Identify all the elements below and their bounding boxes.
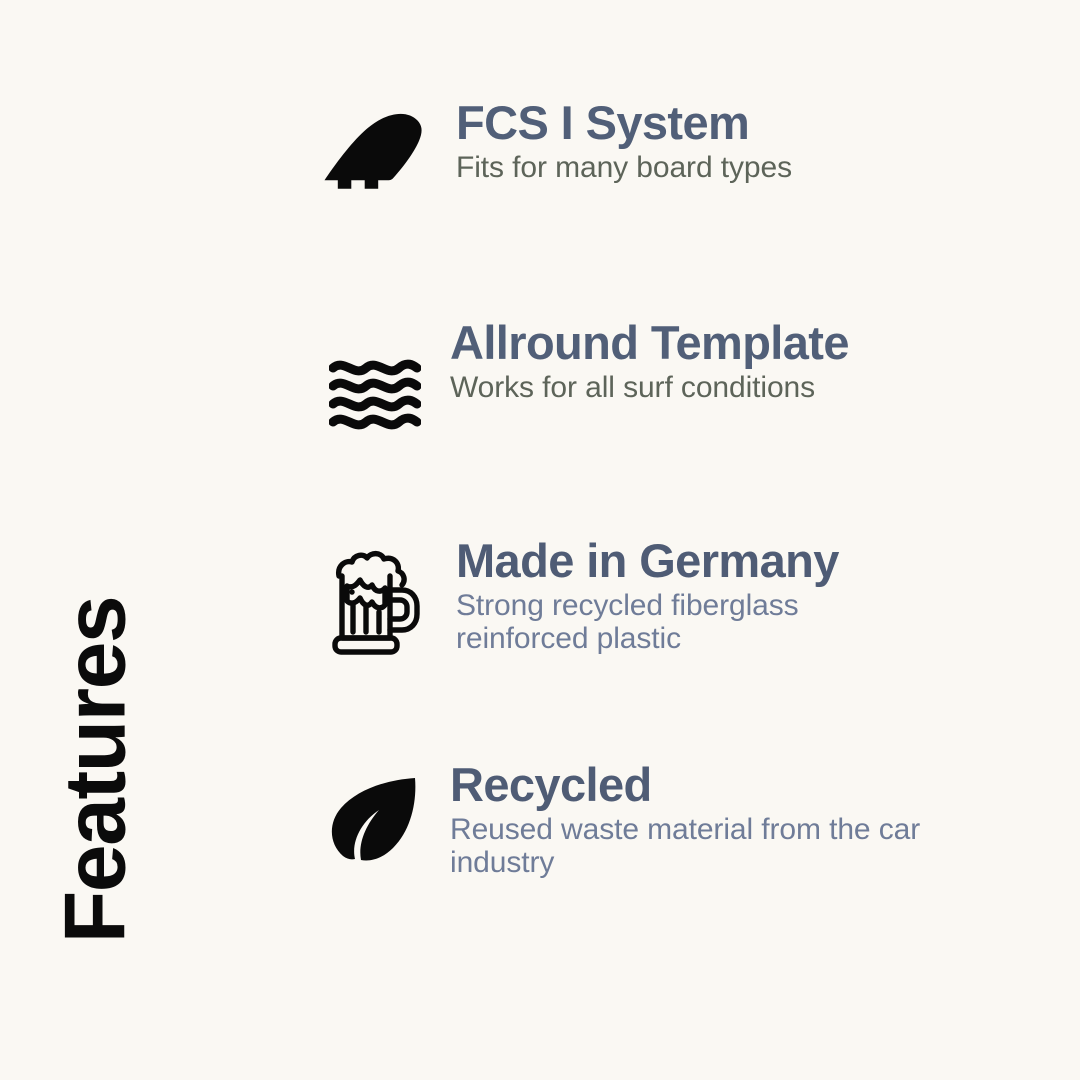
- section-label: Features: [0, 560, 190, 980]
- leaf-icon: [300, 756, 450, 866]
- feature-text-block: FCS I System Fits for many board types: [450, 96, 1080, 184]
- feature-text-block: Allround Template Works for all surf con…: [450, 316, 1080, 404]
- surfboard-fin-icon: [300, 96, 450, 196]
- feature-text-block: Recycled Reused waste material from the …: [450, 756, 1080, 880]
- beer-mug-icon: [300, 536, 450, 660]
- feature-title: Recycled: [450, 760, 1080, 811]
- feature-title: FCS I System: [456, 98, 1080, 149]
- feature-subtitle: Fits for many board types: [456, 151, 1080, 185]
- feature-item-made-in-germany: Made in Germany Strong recycled fibergla…: [300, 536, 1080, 756]
- feature-subtitle: Strong recycled fiberglass reinforced pl…: [456, 589, 926, 656]
- feature-subtitle: Works for all surf conditions: [450, 371, 1080, 405]
- feature-title: Allround Template: [450, 318, 1080, 369]
- waves-icon: [300, 316, 450, 432]
- feature-title: Made in Germany: [456, 536, 1080, 587]
- feature-text-block: Made in Germany Strong recycled fibergla…: [450, 536, 1080, 656]
- feature-list: FCS I System Fits for many board types A…: [300, 96, 1080, 976]
- features-section: Features FCS I System Fits for many boar…: [0, 0, 1080, 1080]
- feature-item-fcs-i-system: FCS I System Fits for many board types: [300, 96, 1080, 316]
- feature-item-allround-template: Allround Template Works for all surf con…: [300, 316, 1080, 536]
- feature-item-recycled: Recycled Reused waste material from the …: [300, 756, 1080, 976]
- feature-subtitle: Reused waste material from the car indus…: [450, 813, 970, 880]
- section-label-text: Features: [52, 597, 138, 944]
